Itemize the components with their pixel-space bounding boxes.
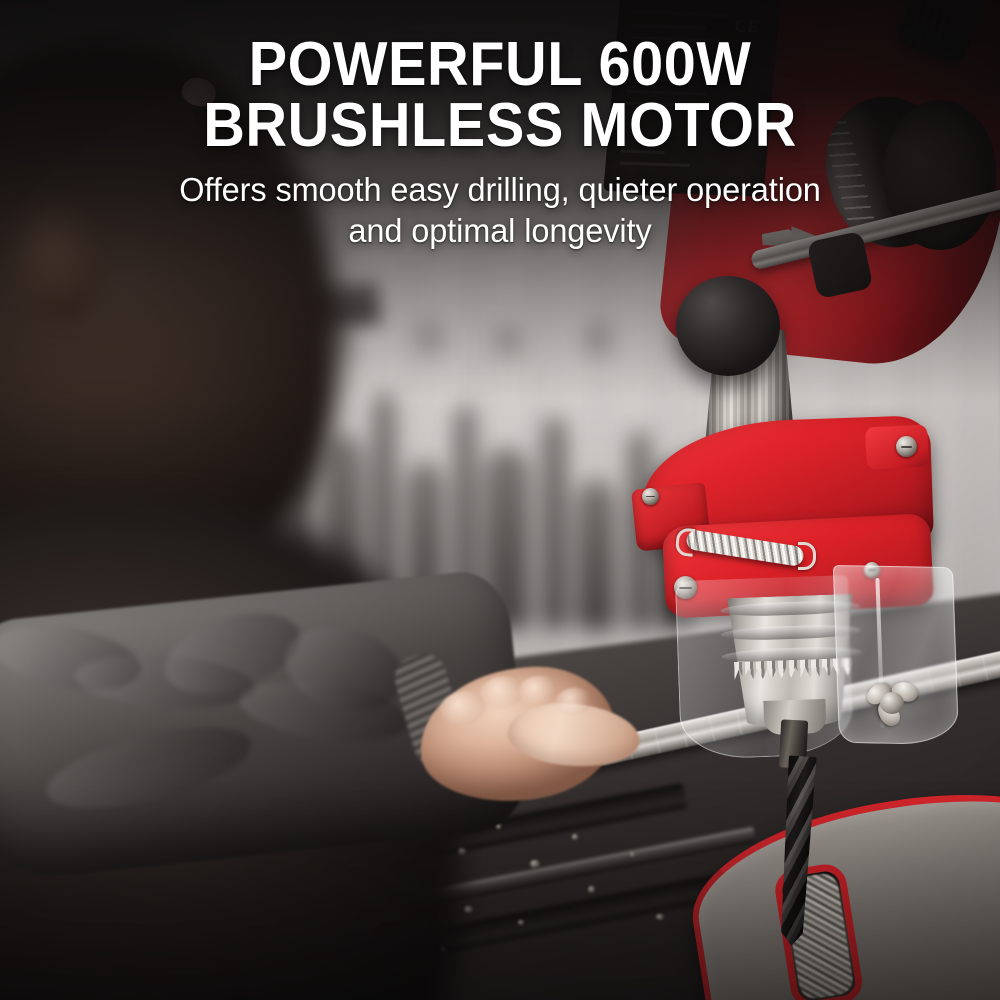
guard-housing-screw [642,488,659,505]
ce-marking: CE [734,18,761,36]
guard-thumbscrew [866,682,920,724]
operator-hand [410,634,670,842]
feed-lever-ball-knob [676,276,780,376]
operator-ear [18,196,104,318]
product-feature-banner: CE [0,0,1000,1000]
spec-plate: CE [603,0,781,196]
handle-hub [807,231,874,299]
product-photo-scene: CE [0,0,1000,1000]
guard-lug-screw [896,436,917,457]
safety-guard-left-panel [675,575,854,760]
